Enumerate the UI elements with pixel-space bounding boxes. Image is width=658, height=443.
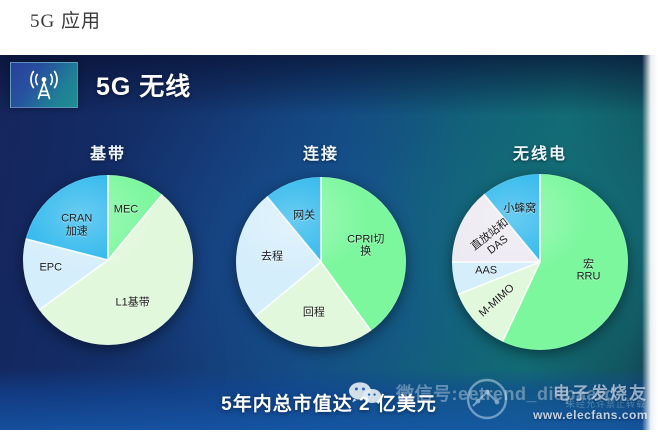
section-banner: 5G 无线 bbox=[10, 63, 191, 107]
chart-heading: 无线电 bbox=[513, 140, 567, 164]
globe-network-icon bbox=[466, 378, 508, 420]
footer-caption: 5年内总市值达 2 亿美元 bbox=[221, 389, 437, 416]
brand-url-watermark: www.elecfans.com bbox=[533, 408, 648, 422]
pie-chart: MECL1基带EPCCRAN 加速 bbox=[23, 175, 193, 345]
pie-slices: CPRI切换回程去程网关 bbox=[236, 177, 406, 347]
chart-heading: 连接 bbox=[303, 140, 339, 164]
banner-title: 5G 无线 bbox=[96, 67, 191, 103]
slide-panel: 5G 无线 基带MECL1基带EPCCRAN 加速连接CPRI切换回程去程网关无… bbox=[0, 55, 658, 430]
brand-name-watermark: 电子发烧友 bbox=[553, 379, 648, 404]
bottom-white-strip bbox=[0, 430, 658, 443]
pie-chart: CPRI切换回程去程网关 bbox=[236, 177, 406, 347]
brand-sub-watermark: 未经允许禁止转载 bbox=[566, 397, 646, 410]
pie-slices: MECL1基带EPCCRAN 加速 bbox=[23, 175, 193, 345]
chart-heading: 基带 bbox=[90, 140, 126, 164]
page-title: 5G 应用 bbox=[30, 6, 101, 33]
slide-root: 5G 应用 bbox=[0, 0, 658, 443]
cell-tower-signal-icon bbox=[10, 62, 78, 108]
pie-chart: 宏 RRUM-MIMOAAS直放站和 DAS小蜂窝 bbox=[452, 174, 628, 350]
pie-slices: 宏 RRUM-MIMOAAS直放站和 DAS小蜂窝 bbox=[452, 174, 628, 350]
